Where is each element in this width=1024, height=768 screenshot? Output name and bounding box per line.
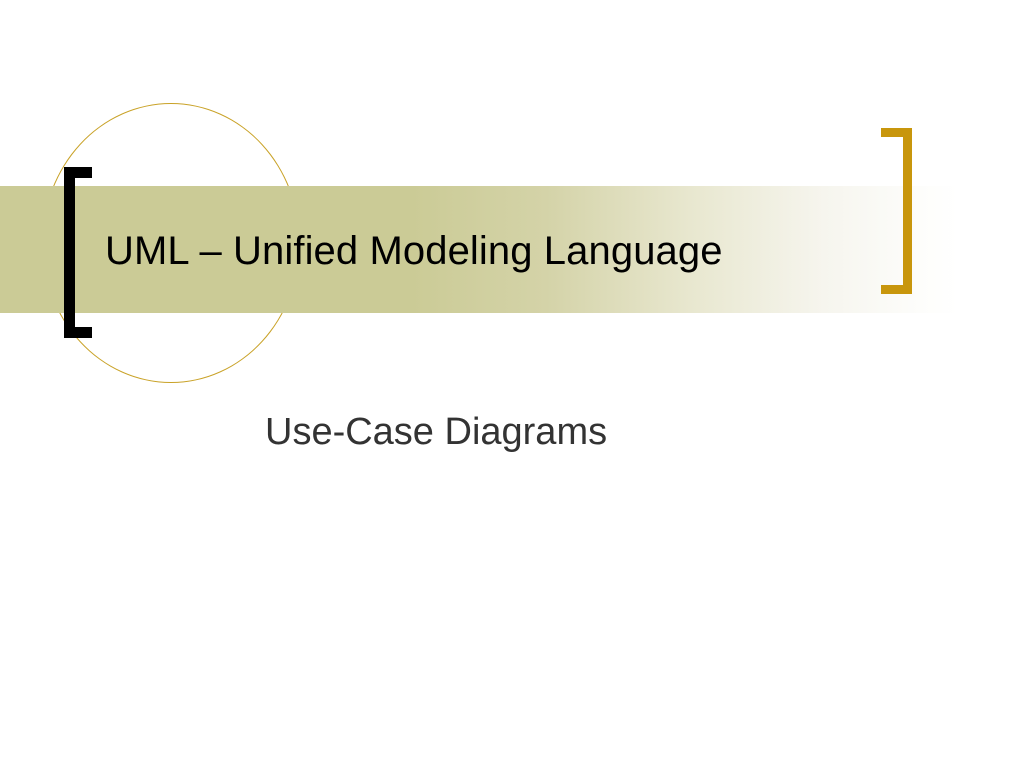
slide-subtitle: Use-Case Diagrams (265, 408, 607, 456)
slide-body-content-area (0, 480, 1024, 768)
presentation-slide: UML – Unified Modeling Language Use-Case… (0, 0, 1024, 768)
right-bracket-icon (881, 128, 912, 294)
left-bracket-icon (64, 167, 92, 338)
slide-title: UML – Unified Modeling Language (105, 226, 723, 276)
